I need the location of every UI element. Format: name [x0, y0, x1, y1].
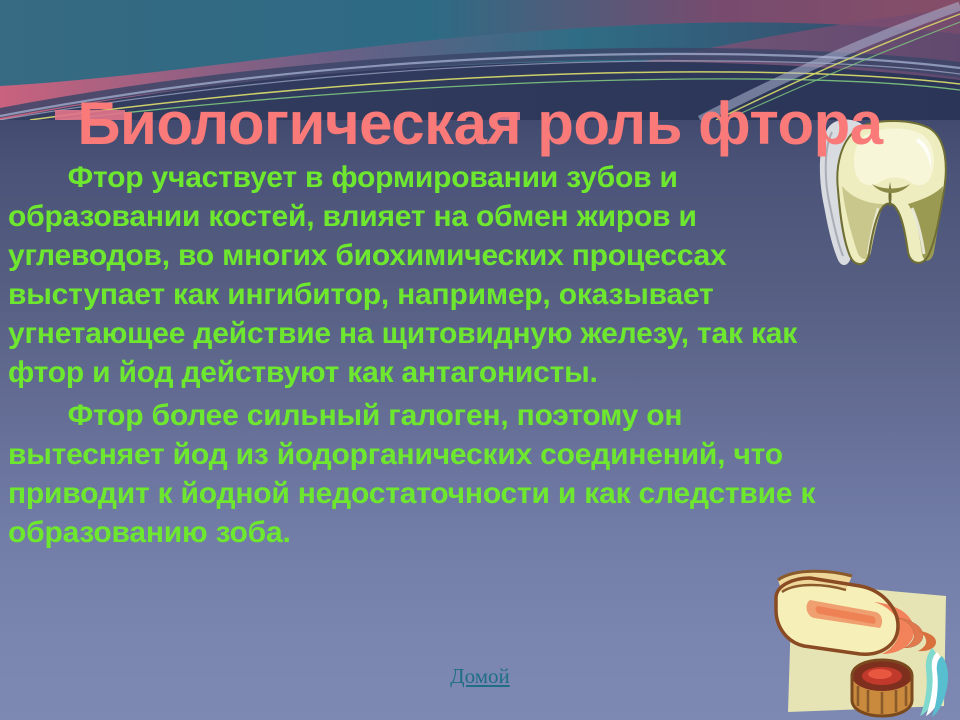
page-title: Биологическая роль фтора	[0, 92, 960, 155]
slide-body: Фтор участвует в формировании зубов и об…	[8, 158, 844, 552]
slide: Биологическая роль фтора Фтор учас	[0, 0, 960, 720]
toothpaste-tube-icon	[748, 556, 960, 720]
paragraph-1: Фтор участвует в формировании зубов и об…	[8, 158, 844, 392]
home-link[interactable]: Домой	[450, 664, 509, 688]
home-link-wrapper: Домой	[0, 664, 960, 689]
paragraph-2: Фтор более сильный галоген, поэтому он в…	[8, 396, 844, 552]
